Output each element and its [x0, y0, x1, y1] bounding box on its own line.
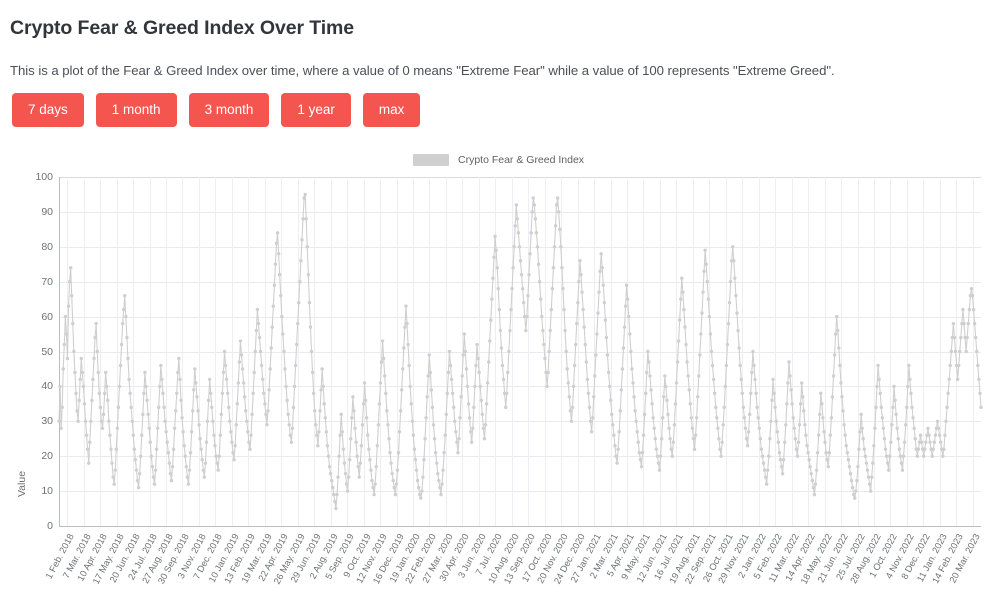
y-tick-label-90: 90 [41, 206, 53, 218]
y-tick-label-0: 0 [47, 520, 53, 532]
series-line-crypto-fear-greed-index [59, 177, 981, 526]
y-tick-label-50: 50 [41, 346, 53, 358]
range-button-1-year[interactable]: 1 year [281, 93, 351, 127]
range-button-1-month[interactable]: 1 month [96, 93, 177, 127]
chart-legend: Crypto Fear & Greed Index [413, 154, 584, 166]
fear-greed-page: Crypto Fear & Greed Index Over Time This… [0, 0, 1000, 602]
range-button-3-month[interactable]: 3 month [189, 93, 270, 127]
series-markers [57, 193, 982, 510]
range-button-group: 7 days1 month3 month1 yearmax [12, 93, 420, 127]
range-button-max[interactable]: max [363, 93, 421, 127]
y-tick-label-30: 30 [41, 415, 53, 427]
y-tick-label-80: 80 [41, 241, 53, 253]
legend-label: Crypto Fear & Greed Index [458, 154, 584, 166]
legend-swatch-icon [413, 154, 449, 166]
y-axis-title: Value [16, 454, 28, 514]
plot-area: 0102030405060708090100 1 Feb. 20187 Mar.… [59, 177, 981, 526]
y-tick-label-20: 20 [41, 450, 53, 462]
y-tick-label-10: 10 [41, 485, 53, 497]
y-tick-label-100: 100 [35, 171, 53, 183]
y-tick-label-70: 70 [41, 276, 53, 288]
gridline-y-0 [59, 526, 981, 527]
y-tick-label-40: 40 [41, 380, 53, 392]
y-tick-label-60: 60 [41, 311, 53, 323]
page-description: This is a plot of the Fear & Greed Index… [10, 63, 835, 78]
chart-container: Crypto Fear & Greed Index Value 01020304… [0, 148, 1000, 602]
range-button-7-days[interactable]: 7 days [12, 93, 84, 127]
series-path [59, 194, 981, 508]
page-title: Crypto Fear & Greed Index Over Time [10, 17, 354, 40]
